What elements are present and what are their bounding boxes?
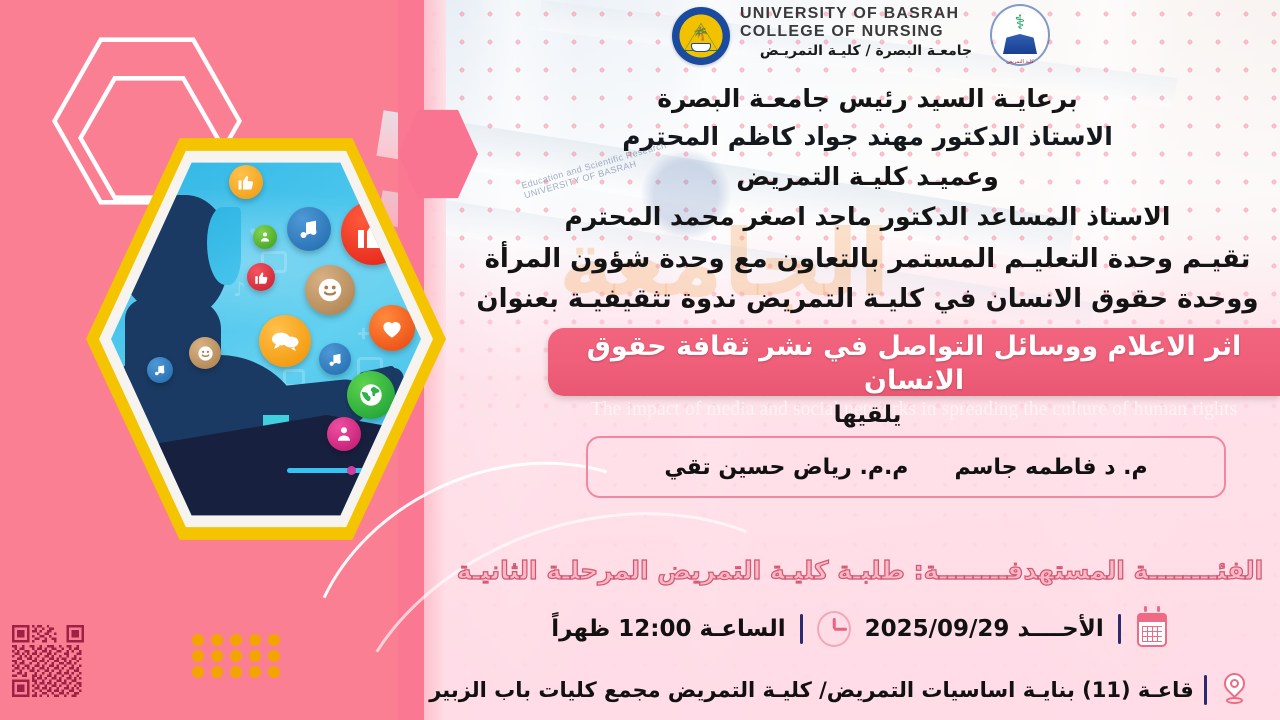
bubble-music-note-icon-mid	[319, 343, 351, 375]
social-media-hexagon-illustration: ★ ★ ♥ ✚ ✚ ✚ ♫ ♪ ☻	[86, 134, 446, 544]
organizer-line-1: تقيـم وحدة التعليـم المستمر بالتعاون مع …	[455, 244, 1280, 274]
university-of-basrah-seal: 🌴	[672, 7, 730, 65]
patronage-line: برعايـة السيد رئيس جامعـة البصرة	[455, 84, 1280, 113]
and-dean-line: وعميـد كليـة التمريض	[455, 162, 1280, 191]
bubble-thumbs-up-icon-red-small	[247, 263, 275, 291]
bubble-smiley-icon	[305, 265, 355, 315]
calendar-icon	[1135, 611, 1169, 647]
seminar-title-banner: اثر الاعلام ووسائل التواصل في نشر ثقافة …	[548, 328, 1280, 396]
target-audience-line: الفئــــــــة المستهدفــــــــة: طلبـة ك…	[440, 556, 1280, 585]
clock-icon	[817, 611, 851, 647]
bubble-heart-icon	[369, 305, 415, 351]
speakers-label: يلقيها	[455, 402, 1280, 428]
poster-header: 🌴 UNIVERSITY OF BASRAH COLLEGE OF NURSIN…	[660, 4, 1070, 66]
bubble-user-icon-pink-bottom	[327, 417, 361, 451]
divider-3	[1204, 675, 1207, 705]
divider-1	[1118, 614, 1121, 644]
bubble-music-note-icon	[287, 207, 331, 251]
orange-dot-grid	[188, 632, 284, 680]
laptop-indicator-dot	[347, 466, 356, 475]
event-date: الأحــــد 2025/09/29	[865, 616, 1104, 642]
bubble-music-note-icon-small	[147, 357, 173, 383]
dean-line: الاستاذ المساعد الدكتور ماجد اصغر محمد ا…	[455, 202, 1280, 231]
silhouette-face-notch	[207, 207, 241, 285]
divider-2	[800, 614, 803, 644]
seminar-title-ar: اثر الاعلام ووسائل التواصل في نشر ثقافة …	[548, 330, 1280, 398]
bubble-user-icon-small	[253, 225, 277, 249]
rector-line: الاستاذ الدكتور مهند جواد كاظم المحترم	[455, 122, 1280, 151]
qr-code[interactable]	[12, 625, 84, 697]
bubble-chat-bubbles-icon	[259, 315, 311, 367]
speaker-name-1: م. د فاطمه جاسم	[954, 455, 1147, 480]
university-name-en-line2: COLLEGE OF NURSING	[740, 23, 990, 41]
event-time: الساعـة 12:00 ظهراً	[551, 616, 785, 642]
university-name-en-line1: UNIVERSITY OF BASRAH	[740, 5, 990, 23]
bubble-thumbs-up-icon	[229, 165, 263, 199]
speaker-name-2: م.م. رياض حسين تقي	[664, 455, 908, 480]
poster-root: الجامعة Education and Scientific Researc…	[0, 0, 1280, 720]
header-titles: UNIVERSITY OF BASRAH COLLEGE OF NURSING …	[740, 5, 990, 59]
date-time-row: الأحــــد 2025/09/29 الساعـة 12:00 ظهراً	[440, 606, 1280, 652]
bubble-smiley-icon-small	[189, 337, 221, 369]
university-name-ar: جامعـة البصرة / كليـة التمريـض	[740, 43, 992, 59]
organizer-line-2: ووحدة حقوق الانسان في كليـة التمريض ندوة…	[455, 284, 1280, 314]
location-row: قاعـة (11) بنايـة اساسيات التمريض/ كليـة…	[400, 668, 1280, 712]
location-pin-icon	[1217, 672, 1251, 708]
college-of-nursing-seal: ⚕ كلية التمريض	[990, 4, 1050, 66]
nursing-seal-label: كلية التمريض	[1006, 59, 1033, 65]
event-location: قاعـة (11) بنايـة اساسيات التمريض/ كليـة…	[429, 678, 1194, 702]
speakers-box: م.م. رياض حسين تقي م. د فاطمه جاسم	[586, 436, 1226, 498]
